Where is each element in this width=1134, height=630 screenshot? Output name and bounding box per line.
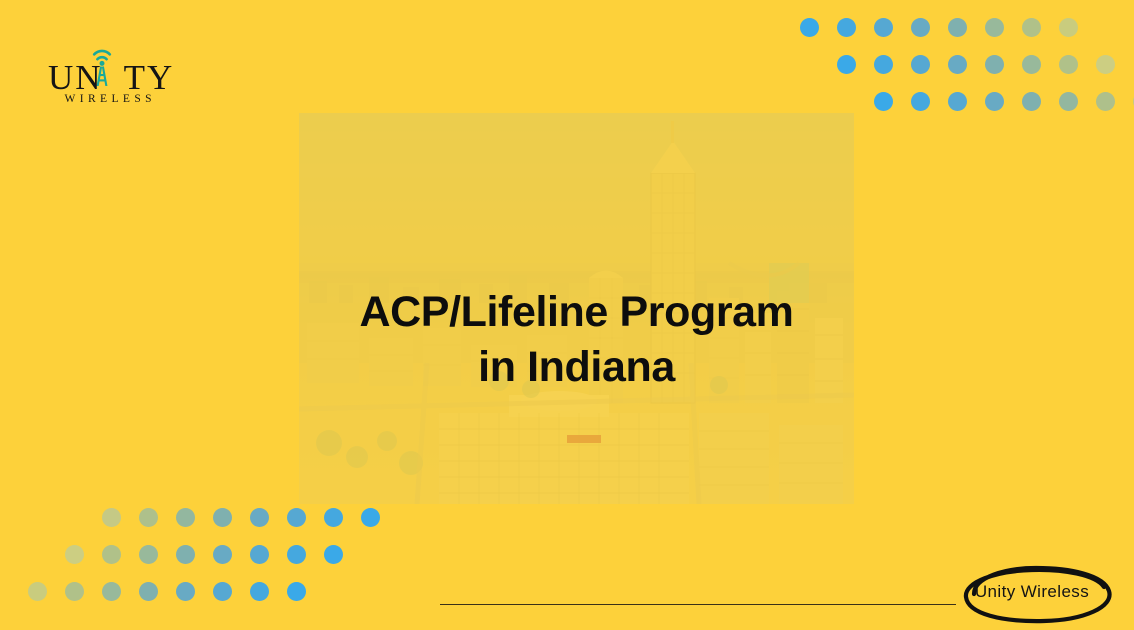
unity-wireless-badge: Unity Wireless [944, 563, 1120, 625]
title-line-1: ACP/Lifeline Program [359, 288, 793, 336]
page-title: ACP/Lifeline Program in Indiana [299, 285, 854, 395]
logo-wordmark: UNTY [48, 60, 168, 95]
unity-wireless-logo: UNTY WIRELESS [48, 42, 168, 104]
footer-divider [440, 604, 956, 605]
title-line-2: in Indiana [299, 340, 854, 395]
badge-label: Unity Wireless [944, 582, 1120, 602]
logo-word-right: TY [124, 58, 175, 97]
logo-subtitle: WIRELESS [48, 94, 168, 106]
promotional-banner: UNTY WIRELESS [0, 0, 1134, 630]
logo-word-left: UN [48, 58, 103, 97]
